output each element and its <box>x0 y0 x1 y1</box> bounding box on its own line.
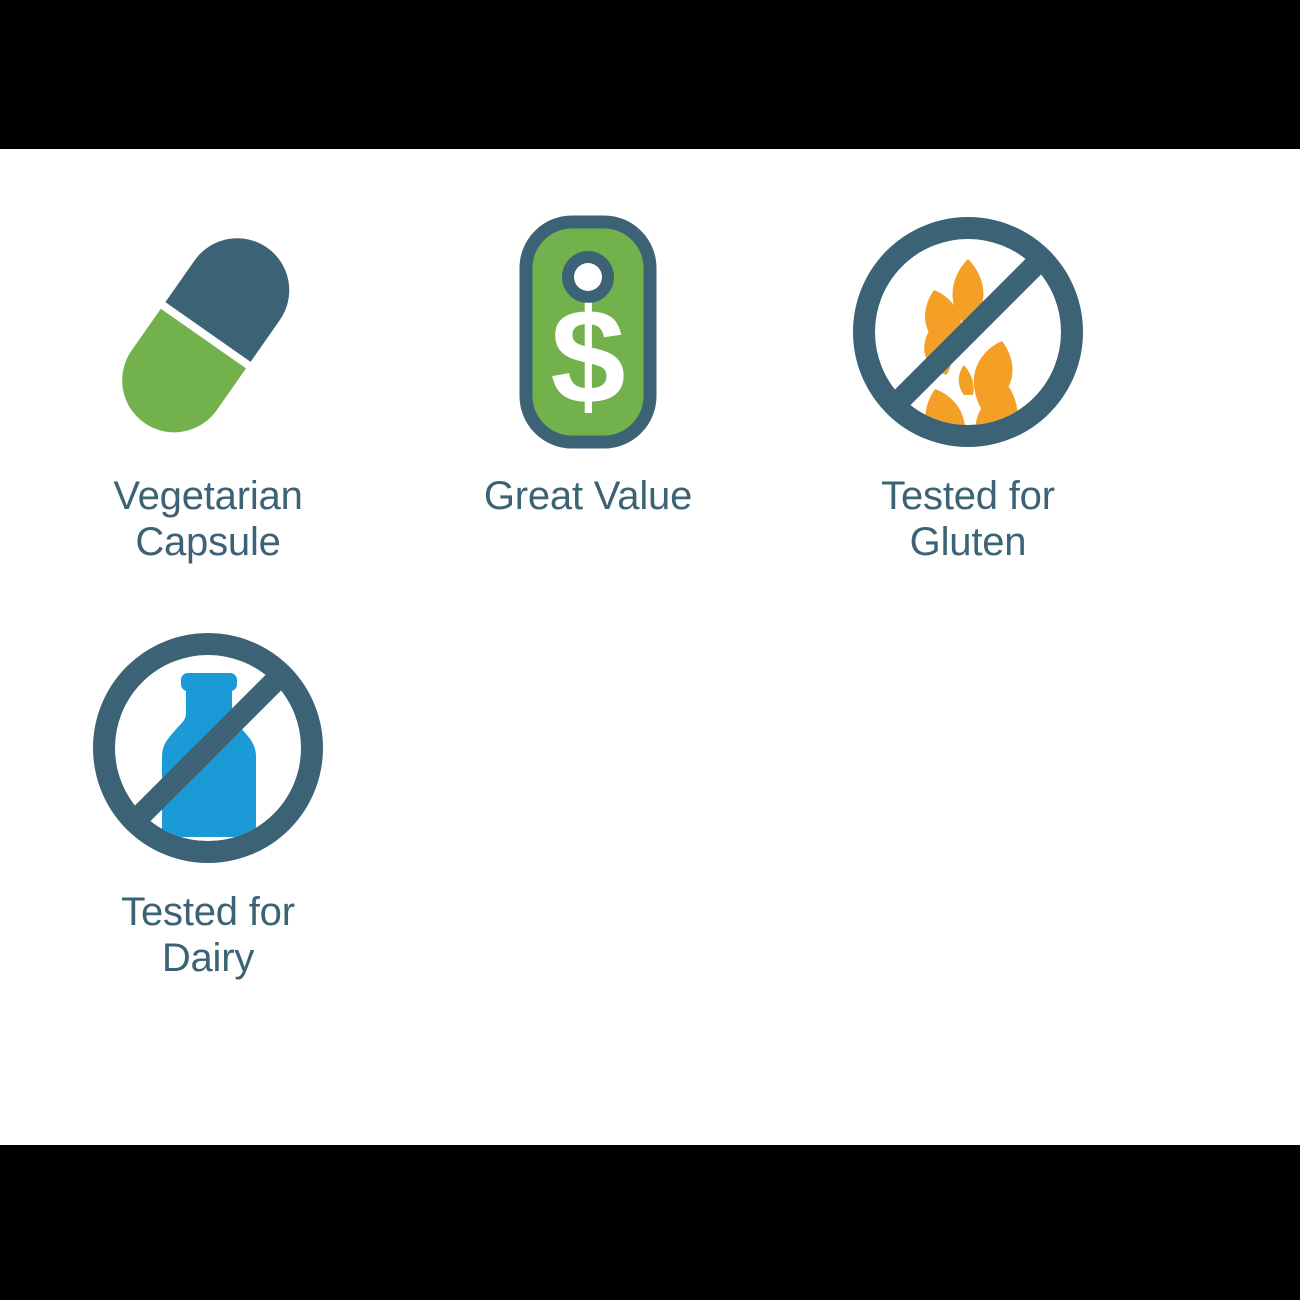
svg-text:$: $ <box>550 281 625 432</box>
product-badge-grid: Vegetarian Capsule $ Great Value <box>0 149 1300 981</box>
screenshot-canvas: Vegetarian Capsule $ Great Value <box>0 0 1300 1300</box>
badge-label: Tested for Gluten <box>881 473 1055 565</box>
capsule-icon <box>83 207 333 457</box>
badge-label: Vegetarian Capsule <box>113 473 302 565</box>
badge-vegetarian-capsule[interactable]: Vegetarian Capsule <box>18 149 398 565</box>
content-panel: Vegetarian Capsule $ Great Value <box>0 149 1300 1145</box>
no-gluten-wheat-icon <box>843 207 1093 457</box>
badge-tested-for-dairy[interactable]: Tested for Dairy <box>18 565 398 981</box>
price-tag-dollar-icon: $ <box>463 207 713 457</box>
badge-label: Tested for Dairy <box>121 889 295 981</box>
badge-great-value[interactable]: $ Great Value <box>398 149 778 565</box>
letterbox-bar-top <box>0 0 1300 149</box>
badge-label: Great Value <box>484 473 692 519</box>
badge-tested-for-gluten[interactable]: Tested for Gluten <box>778 149 1158 565</box>
letterbox-bar-bottom <box>0 1145 1300 1300</box>
no-dairy-bottle-icon <box>83 623 333 873</box>
